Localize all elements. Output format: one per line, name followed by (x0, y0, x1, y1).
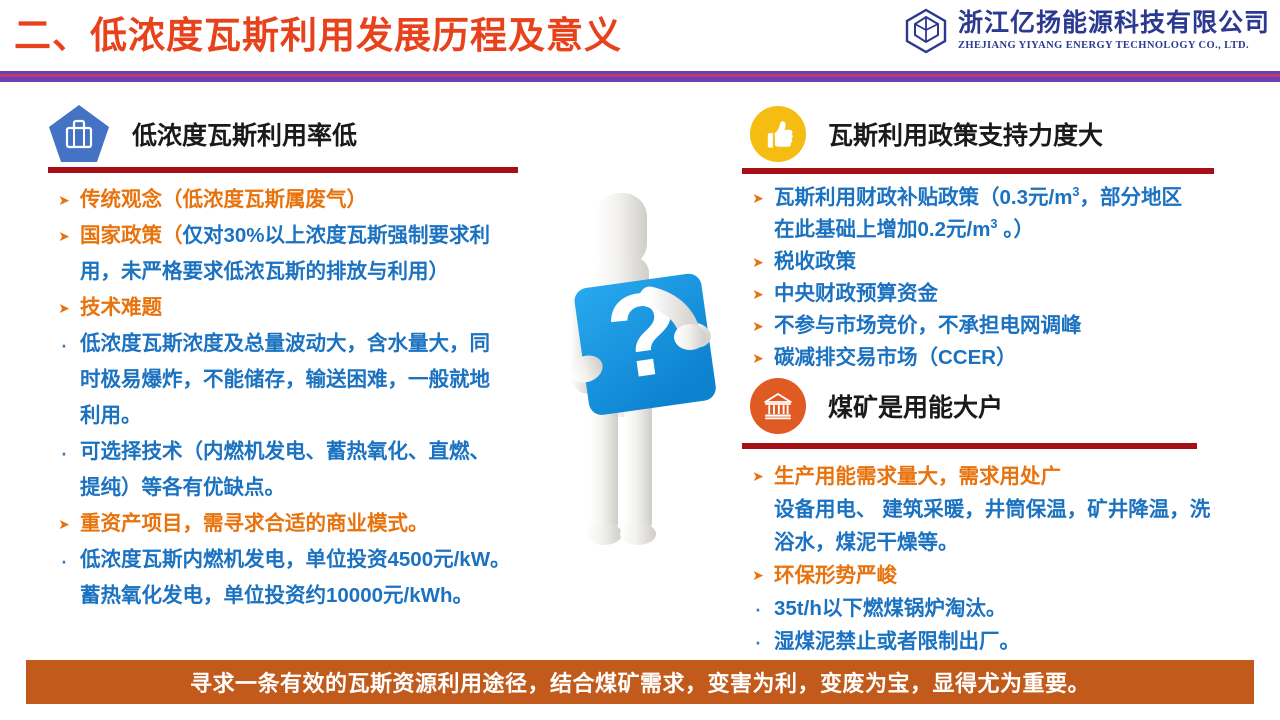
list-item-label: 时极易爆炸，不能储存，输送困难，一般就地 (80, 362, 490, 398)
arrow-bullet-icon: ➤ (742, 342, 774, 374)
briefcase-pentagon-icon (48, 104, 110, 164)
list-item: ➤重资产项目，需寻求合适的商业模式。 (48, 506, 553, 542)
logo-text-block: 浙江亿扬能源科技有限公司 ZHEJIANG YIYANG ENERGY TECH… (958, 11, 1270, 52)
arrow-bullet-icon: ➤ (48, 182, 80, 218)
list-item: 设备用电、 建筑采暖，井筒保温，矿井降温，洗 (742, 493, 1252, 526)
right-bottom-section-header: 煤矿是用能大户 (750, 378, 1003, 434)
dot-bullet-icon: · (48, 434, 80, 470)
right-top-section-underline (742, 168, 1214, 174)
list-item-label: 低浓度瓦斯浓度及总量波动大，含水量大，同 (80, 326, 490, 362)
list-item: ·35t/h以下燃煤锅炉淘汰。 (742, 592, 1252, 625)
left-section-title: 低浓度瓦斯利用率低 (132, 116, 357, 152)
dot-bullet-icon: · (742, 592, 774, 625)
list-item-label: 湿煤泥禁止或者限制出厂。 (774, 625, 1020, 658)
list-item-label: 不参与市场竞价，不承担电网调峰 (774, 310, 1082, 342)
list-item: 利用。 (48, 398, 553, 434)
right-bottom-section-underline (742, 443, 1197, 449)
header-divider (0, 71, 1280, 82)
list-item-label: 低浓度瓦斯内燃机发电，单位投资4500元/kW。 (80, 542, 511, 578)
list-item-label: 在此基础上增加0.2元/m3 。） (774, 214, 1034, 246)
list-item-label: 用，未严格要求低浓瓦斯的排放与利用） (80, 254, 449, 290)
list-item: ➤中央财政预算资金 (742, 278, 1252, 310)
list-item: ·可选择技术（内燃机发电、蓄热氧化、直燃、 (48, 434, 553, 470)
list-item-label: 蓄热氧化发电，单位投资约10000元/kWh。 (80, 578, 473, 614)
right-bottom-bullet-list: ➤生产用能需求量大，需求用处广 设备用电、 建筑采暖，井筒保温，矿井降温，洗 浴… (742, 460, 1252, 658)
list-item: 提纯）等各有优缺点。 (48, 470, 553, 506)
arrow-bullet-icon: ➤ (742, 278, 774, 310)
bullet-spacer (742, 493, 774, 526)
bank-building-icon (750, 378, 806, 434)
arrow-bullet-icon: ➤ (742, 310, 774, 342)
list-item-label: 浴水，煤泥干燥等。 (774, 526, 959, 559)
arrow-bullet-icon: ➤ (742, 246, 774, 278)
list-item-label: 国家政策（仅对30%以上浓度瓦斯强制要求利 (80, 218, 490, 254)
list-item: ·湿煤泥禁止或者限制出厂。 (742, 625, 1252, 658)
list-item-label: 技术难题 (80, 290, 162, 326)
list-item-label: 生产用能需求量大，需求用处广 (774, 460, 1061, 493)
bullet-spacer (48, 254, 80, 290)
list-item: ➤国家政策（仅对30%以上浓度瓦斯强制要求利 (48, 218, 553, 254)
company-name-cn: 浙江亿扬能源科技有限公司 (958, 11, 1270, 36)
list-item-label: 中央财政预算资金 (774, 278, 938, 310)
list-item: 蓄热氧化发电，单位投资约10000元/kWh。 (48, 578, 553, 614)
list-item-label: 可选择技术（内燃机发电、蓄热氧化、直燃、 (80, 434, 490, 470)
left-section-underline (48, 167, 518, 173)
list-item-label: 碳减排交易市场（CCER） (774, 342, 1017, 374)
list-item-label: 传统观念（低浓度瓦斯属废气） (80, 182, 367, 218)
bullet-spacer (48, 470, 80, 506)
right-top-section-title: 瓦斯利用政策支持力度大 (828, 116, 1103, 152)
list-item-label: 利用。 (80, 398, 142, 434)
right-top-section-header: 瓦斯利用政策支持力度大 (750, 106, 1103, 162)
dot-bullet-icon: · (48, 542, 80, 578)
arrow-bullet-icon: ➤ (742, 559, 774, 592)
footer-text: 寻求一条有效的瓦斯资源利用途径，结合煤矿需求，变害为利，变废为宝，显得尤为重要。 (190, 666, 1090, 698)
list-item: ➤不参与市场竞价，不承担电网调峰 (742, 310, 1252, 342)
thumbs-up-icon (750, 106, 806, 162)
list-item-label: 重资产项目，需寻求合适的商业模式。 (80, 506, 429, 542)
right-bottom-section-title: 煤矿是用能大户 (828, 388, 1003, 424)
right-top-bullet-list: ➤瓦斯利用财政补贴政策（0.3元/m3，部分地区 在此基础上增加0.2元/m3 … (742, 182, 1252, 374)
left-bullet-list: ➤传统观念（低浓度瓦斯属废气）➤国家政策（仅对30%以上浓度瓦斯强制要求利 用，… (48, 182, 553, 614)
list-item-label: 税收政策 (774, 246, 856, 278)
list-item: ·低浓度瓦斯内燃机发电，单位投资4500元/kW。 (48, 542, 553, 578)
list-item: ➤税收政策 (742, 246, 1252, 278)
left-section-header: 低浓度瓦斯利用率低 (48, 104, 357, 164)
list-item: 用，未严格要求低浓瓦斯的排放与利用） (48, 254, 553, 290)
footer-banner: 寻求一条有效的瓦斯资源利用途径，结合煤矿需求，变害为利，变废为宝，显得尤为重要。 (26, 660, 1254, 704)
list-item: ➤碳减排交易市场（CCER） (742, 342, 1252, 374)
bullet-spacer (742, 526, 774, 559)
dot-bullet-icon: · (48, 326, 80, 362)
list-item: 浴水，煤泥干燥等。 (742, 526, 1252, 559)
list-item: ➤传统观念（低浓度瓦斯属废气） (48, 182, 553, 218)
arrow-bullet-icon: ➤ (48, 290, 80, 326)
company-logo: 浙江亿扬能源科技有限公司 ZHEJIANG YIYANG ENERGY TECH… (904, 8, 1270, 54)
bullet-spacer (742, 214, 774, 246)
list-item-label: 提纯）等各有优缺点。 (80, 470, 285, 506)
arrow-bullet-icon: ➤ (48, 506, 80, 542)
page-title: 二、低浓度瓦斯利用发展历程及意义 (14, 8, 622, 64)
arrow-bullet-icon: ➤ (742, 182, 774, 214)
arrow-bullet-icon: ➤ (48, 218, 80, 254)
list-item: 时极易爆炸，不能储存，输送困难，一般就地 (48, 362, 553, 398)
hexagon-cube-logo-icon (904, 8, 948, 54)
list-item-label: 设备用电、 建筑采暖，井筒保温，矿井降温，洗 (774, 493, 1210, 526)
bullet-spacer (48, 362, 80, 398)
list-item: ➤技术难题 (48, 290, 553, 326)
slide-root: 二、低浓度瓦斯利用发展历程及意义 浙江亿扬能源科技有限公司 ZHEJIANG Y… (0, 0, 1280, 720)
list-item: ➤瓦斯利用财政补贴政策（0.3元/m3，部分地区 (742, 182, 1252, 214)
person-holding-question-sign: ? (538, 185, 753, 580)
slide-header: 二、低浓度瓦斯利用发展历程及意义 浙江亿扬能源科技有限公司 ZHEJIANG Y… (0, 0, 1280, 72)
list-item: 在此基础上增加0.2元/m3 。） (742, 214, 1252, 246)
list-item-label: 瓦斯利用财政补贴政策（0.3元/m3，部分地区 (774, 182, 1182, 214)
list-item: ➤环保形势严峻 (742, 559, 1252, 592)
bullet-spacer (48, 578, 80, 614)
list-item: ·低浓度瓦斯浓度及总量波动大，含水量大，同 (48, 326, 553, 362)
dot-bullet-icon: · (742, 625, 774, 658)
list-item: ➤生产用能需求量大，需求用处广 (742, 460, 1252, 493)
list-item-label: 环保形势严峻 (774, 559, 897, 592)
divider-band-bottom (0, 77, 1280, 82)
bullet-spacer (48, 398, 80, 434)
list-item-label: 35t/h以下燃煤锅炉淘汰。 (774, 592, 1006, 625)
arrow-bullet-icon: ➤ (742, 460, 774, 493)
company-name-en: ZHEJIANG YIYANG ENERGY TECHNOLOGY CO., L… (958, 41, 1270, 52)
